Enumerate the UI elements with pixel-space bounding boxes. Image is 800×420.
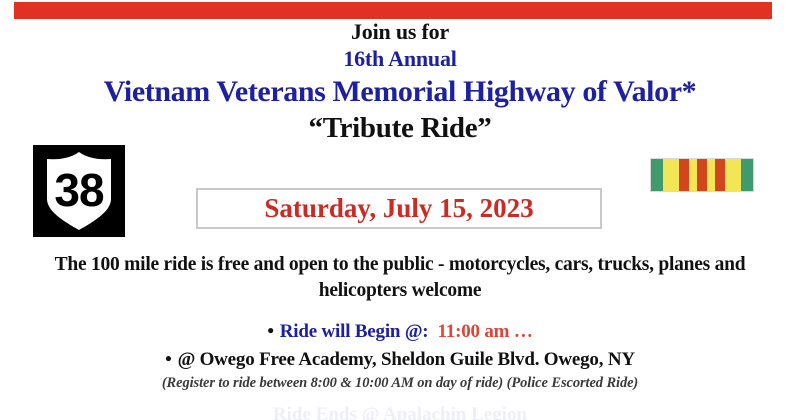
ribbon-stripe (697, 159, 707, 191)
annual-line: 16th Annual (0, 44, 800, 74)
ribbon-stripe (689, 159, 697, 191)
vietnam-service-ribbon-icon (650, 158, 754, 192)
subtitle-tribute-ride: “Tribute Ride” (0, 110, 800, 146)
event-date-text: Saturday, July 15, 2023 (264, 195, 533, 222)
headline-block: Join us for 16th Annual Vietnam Veterans… (0, 20, 800, 146)
ribbon-stripe (679, 159, 689, 191)
registration-note: (Register to ride between 8:00 & 10:00 A… (0, 373, 800, 395)
ribbon-stripe (651, 159, 663, 191)
ribbon-stripe (663, 159, 678, 191)
ride-start-time: 11:00 am (438, 321, 510, 342)
ribbon-stripe (715, 159, 725, 191)
bullet-dot-icon: • (267, 321, 279, 342)
flyer-canvas: Join us for 16th Annual Vietnam Veterans… (0, 0, 800, 420)
ribbon-stripe (725, 159, 740, 191)
route-38-shield-icon: 38 (33, 145, 125, 237)
ride-description: The 100 mile ride is free and open to th… (30, 252, 770, 305)
ribbon-stripe (707, 159, 715, 191)
top-red-bar (14, 2, 772, 19)
ride-start-label: Ride will Begin @: (280, 321, 429, 342)
clipped-bottom-line: Ride Ends @ Apalachin Legion (0, 404, 800, 420)
list-item: •Ride will Begin @: 11:00 am … (0, 318, 800, 346)
list-item: •@ Owego Free Academy, Sheldon Guile Blv… (0, 346, 800, 374)
ride-location-label: @ Owego Free Academy, Sheldon Guile Blvd… (178, 349, 635, 370)
details-list: •Ride will Begin @: 11:00 am … •@ Owego … (0, 318, 800, 395)
main-title: Vietnam Veterans Memorial Highway of Val… (0, 74, 800, 110)
ride-start-ellipsis: … (514, 321, 533, 342)
join-us-line: Join us for (0, 20, 800, 44)
date-banner: Saturday, July 15, 2023 (196, 188, 602, 229)
route-shield-number: 38 (54, 164, 104, 216)
ribbon-stripe (741, 159, 753, 191)
bullet-dot-icon: • (165, 349, 177, 370)
